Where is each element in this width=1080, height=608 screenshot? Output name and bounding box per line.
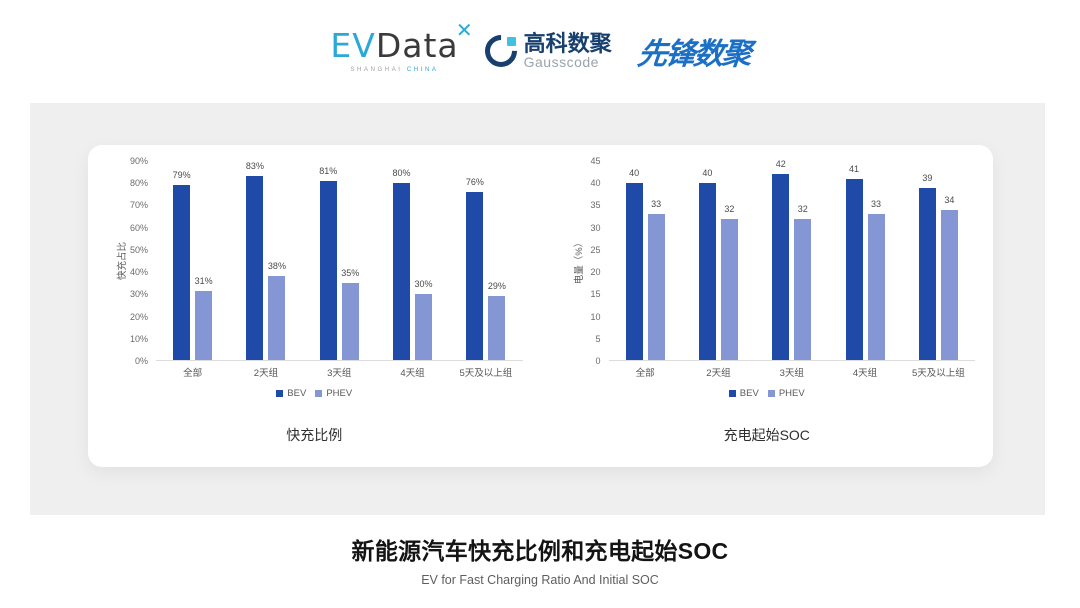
evdata-data-text: Data [376, 26, 459, 65]
y-tick-label: 30 [590, 223, 600, 233]
bar-group: 4032 [682, 161, 755, 360]
bars-container-left: 79%31%83%38%81%35%80%30%76%29% [156, 161, 523, 361]
evdata-x-icon: ✕ [456, 20, 474, 40]
legend-left: BEV PHEV [88, 388, 541, 399]
evdata-wordmark: EVData✕ [330, 29, 458, 62]
legend-label-bev: BEV [740, 388, 759, 399]
gausscode-chinese-name: 高科数聚 [524, 32, 612, 55]
bar-bev[interactable]: 40 [626, 183, 643, 360]
logo-bar: EVData✕ SHANGHAI CHINA 高科数聚 Gausscode 先锋… [0, 22, 1080, 80]
bar-value-label: 83% [246, 161, 264, 171]
chart-panel-fast-charging-ratio: 快充占比 90%80%70%60%50%40%30%20%10%0% 79%31… [88, 145, 541, 467]
bar-value-label: 40 [702, 168, 712, 178]
legend-swatch-phev-icon [768, 390, 775, 397]
evdata-city-text: SHANGHAI [350, 67, 402, 73]
bar-phev[interactable]: 32 [721, 219, 738, 361]
y-tick-label: 90% [130, 156, 148, 166]
bar-value-label: 35% [341, 268, 359, 278]
bar-bev[interactable]: 76% [466, 192, 483, 360]
bar-bev[interactable]: 81% [320, 181, 337, 360]
x-tick-label: 2天组 [682, 365, 755, 379]
bar-value-label: 30% [415, 279, 433, 289]
gausscode-circle-icon [485, 35, 517, 67]
bar-value-label: 80% [393, 168, 411, 178]
bars-container-right: 40334032423241333934 [609, 161, 976, 361]
bar-phev[interactable]: 31% [195, 291, 212, 360]
legend-label-bev: BEV [287, 388, 306, 399]
y-tick-label: 70% [130, 200, 148, 210]
x-tick-label: 全部 [156, 365, 229, 379]
y-tick-label: 0 [595, 356, 600, 366]
y-tick-label: 35 [590, 200, 600, 210]
legend-label-phev: PHEV [326, 388, 352, 399]
y-tick-label: 0% [135, 356, 148, 366]
bar-phev[interactable]: 29% [488, 296, 505, 360]
bar-phev[interactable]: 35% [342, 283, 359, 360]
x-tick-label: 5天及以上组 [449, 365, 522, 379]
x-tick-label: 全部 [609, 365, 682, 379]
plot-area-left: 快充占比 90%80%70%60%50%40%30%20%10%0% 79%31… [102, 161, 523, 361]
bar-group: 3934 [902, 161, 975, 360]
x-axis-categories-left: 全部2天组3天组4天组5天及以上组 [156, 365, 523, 379]
bar-group: 80%30% [376, 161, 449, 360]
y-tick-label: 40 [590, 178, 600, 188]
bar-group: 76%29% [449, 161, 522, 360]
page-subtitle: EV for Fast Charging Ratio And Initial S… [0, 573, 1080, 587]
bar-group: 81%35% [303, 161, 376, 360]
bar-value-label: 32 [724, 204, 734, 214]
bar-phev[interactable]: 32 [794, 219, 811, 361]
x-tick-label: 5天及以上组 [902, 365, 975, 379]
bar-value-label: 31% [195, 276, 213, 286]
bar-phev[interactable]: 33 [868, 214, 885, 360]
gausscode-dot-shape [507, 37, 516, 46]
y-tick-label: 30% [130, 289, 148, 299]
bar-phev[interactable]: 33 [648, 214, 665, 360]
bar-value-label: 81% [319, 166, 337, 176]
y-tick-label: 20 [590, 267, 600, 277]
page-title: 新能源汽车快充比例和充电起始SOC [0, 532, 1080, 566]
bar-value-label: 32 [798, 204, 808, 214]
y-tick-label: 60% [130, 223, 148, 233]
bar-value-label: 29% [488, 281, 506, 291]
gausscode-ring-shape [478, 28, 523, 73]
x-tick-label: 3天组 [755, 365, 828, 379]
bar-value-label: 34 [944, 195, 954, 205]
y-tick-label: 20% [130, 312, 148, 322]
bar-phev[interactable]: 30% [415, 294, 432, 360]
bar-value-label: 79% [173, 170, 191, 180]
y-tick-label: 25 [590, 245, 600, 255]
x-tick-label: 4天组 [828, 365, 901, 379]
bar-value-label: 40 [629, 168, 639, 178]
y-tick-label: 5 [595, 334, 600, 344]
evdata-logo: EVData✕ SHANGHAI CHINA [330, 29, 458, 73]
charts-card: 快充占比 90%80%70%60%50%40%30%20%10%0% 79%31… [88, 145, 993, 467]
plot-area-right: 电量（%） 454035302520151050 403340324232413… [555, 161, 976, 361]
y-tick-label: 40% [130, 267, 148, 277]
chart-caption-right: 充电起始SOC [541, 425, 994, 445]
evdata-tagline: SHANGHAI CHINA [350, 67, 438, 73]
evdata-country-text: CHINA [407, 67, 439, 73]
x-axis-categories-right: 全部2天组3天组4天组5天及以上组 [609, 365, 976, 379]
bar-group: 79%31% [156, 161, 229, 360]
gausscode-text-block: 高科数聚 Gausscode [524, 32, 612, 70]
bar-bev[interactable]: 40 [699, 183, 716, 360]
bar-group: 4033 [609, 161, 682, 360]
bar-bev[interactable]: 80% [393, 183, 410, 360]
bar-bev[interactable]: 41 [846, 179, 863, 360]
bar-phev[interactable]: 34 [941, 210, 958, 360]
bar-value-label: 42 [776, 159, 786, 169]
chart-caption-left: 快充比例 [88, 425, 541, 445]
gausscode-english-name: Gausscode [524, 55, 612, 70]
legend-item-bev-right[interactable]: BEV [729, 388, 759, 399]
y-tick-label: 45 [590, 156, 600, 166]
bar-value-label: 38% [268, 261, 286, 271]
x-tick-label: 2天组 [229, 365, 302, 379]
chart-panel-initial-soc: 电量（%） 454035302520151050 403340324232413… [541, 145, 994, 467]
y-tick-label: 80% [130, 178, 148, 188]
bar-value-label: 39 [922, 173, 932, 183]
bar-group: 4232 [755, 161, 828, 360]
y-tick-label: 10 [590, 312, 600, 322]
legend-label-phev: PHEV [779, 388, 805, 399]
legend-swatch-bev-icon [276, 390, 283, 397]
y-tick-label: 15 [590, 289, 600, 299]
y-tick-label: 50% [130, 245, 148, 255]
legend-item-bev-left[interactable]: BEV [276, 388, 306, 399]
legend-swatch-bev-icon [729, 390, 736, 397]
xianfeng-logo: 先锋数聚 [635, 29, 752, 73]
legend-item-phev-left[interactable]: PHEV [315, 388, 352, 399]
bar-value-label: 33 [651, 199, 661, 209]
y-axis-ticks-left: 90%80%70%60%50%40%30%20%10%0% [118, 161, 152, 361]
bar-group: 4133 [828, 161, 901, 360]
bar-value-label: 41 [849, 164, 859, 174]
legend-item-phev-right[interactable]: PHEV [768, 388, 805, 399]
bar-phev[interactable]: 38% [268, 276, 285, 360]
bar-value-label: 76% [466, 177, 484, 187]
evdata-ev-text: EV [330, 26, 375, 65]
y-axis-ticks-right: 454035302520151050 [571, 161, 605, 361]
y-tick-label: 10% [130, 334, 148, 344]
bar-bev[interactable]: 83% [246, 176, 263, 360]
bar-bev[interactable]: 42 [772, 174, 789, 360]
x-tick-label: 4天组 [376, 365, 449, 379]
bar-bev[interactable]: 39 [919, 188, 936, 360]
x-tick-label: 3天组 [303, 365, 376, 379]
bar-bev[interactable]: 79% [173, 185, 190, 360]
bar-value-label: 33 [871, 199, 881, 209]
legend-swatch-phev-icon [315, 390, 322, 397]
legend-right: BEV PHEV [541, 388, 994, 399]
footer-block: 新能源汽车快充比例和充电起始SOC EV for Fast Charging R… [0, 532, 1080, 587]
bar-group: 83%38% [229, 161, 302, 360]
gausscode-logo: 高科数聚 Gausscode [485, 32, 612, 70]
